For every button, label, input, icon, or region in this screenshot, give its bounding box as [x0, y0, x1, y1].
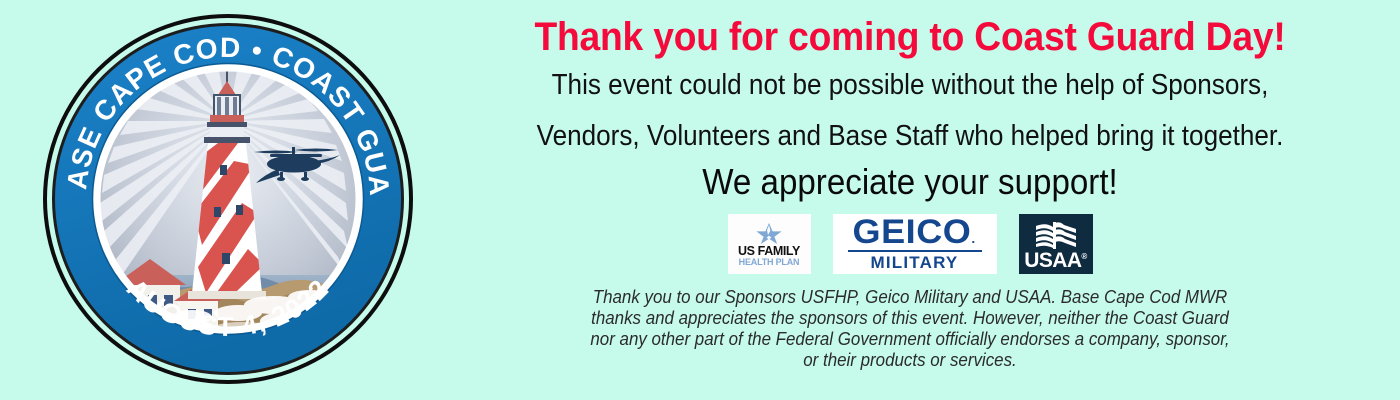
disclaimer-line-1: Thank you to our Sponsors USFHP, Geico M… — [459, 287, 1361, 308]
sponsor-logo-geico[interactable]: GEICO. MILITARY — [833, 214, 997, 274]
geico-wordmark: GEICO — [853, 213, 972, 251]
closing-line: We appreciate your support! — [468, 164, 1351, 200]
event-emblem: JOINT BASE CAPE COD • COAST GUARD DAY AU… — [42, 13, 414, 385]
body-line-2: Vendors, Volunteers and Base Staff who h… — [478, 122, 1342, 151]
sponsor-name-geico: GEICO. — [853, 217, 976, 248]
sponsor-disclaimer: Thank you to our Sponsors USFHP, Geico M… — [459, 287, 1361, 371]
sponsor-subtitle-usfhp: HEALTH PLAN — [739, 258, 800, 267]
sponsor-name-usaa: USAA® — [1024, 250, 1086, 271]
blue-star-icon — [752, 222, 786, 244]
disclaimer-line-2: thanks and appreciates the sponsors of t… — [459, 308, 1361, 329]
usaa-registered-mark: ® — [1081, 252, 1086, 261]
sponsor-logo-usfhp[interactable]: US FAMILY HEALTH PLAN — [728, 214, 811, 274]
disclaimer-line-4: or their products or services. — [459, 350, 1361, 371]
emblem-graphic: JOINT BASE CAPE COD • COAST GUARD DAY AU… — [42, 13, 414, 385]
sponsor-logo-row: US FAMILY HEALTH PLAN GEICO. MILITARY — [430, 214, 1390, 274]
sponsor-subtitle-geico: MILITARY — [871, 254, 959, 271]
sponsor-logo-usaa[interactable]: USAA® — [1019, 214, 1093, 274]
eagle-flag-icon — [1033, 221, 1079, 249]
geico-registered-mark: . — [972, 231, 976, 246]
message-column: Thank you for coming to Coast Guard Day!… — [430, 0, 1390, 400]
page-title: Thank you for coming to Coast Guard Day! — [464, 0, 1357, 58]
coast-guard-day-thank-you-banner: JOINT BASE CAPE COD • COAST GUARD DAY AU… — [0, 0, 1400, 400]
body-line-1: This event could not be possible without… — [478, 71, 1342, 100]
disclaimer-line-3: nor any other part of the Federal Govern… — [459, 329, 1361, 350]
usaa-wordmark: USAA — [1024, 249, 1081, 272]
